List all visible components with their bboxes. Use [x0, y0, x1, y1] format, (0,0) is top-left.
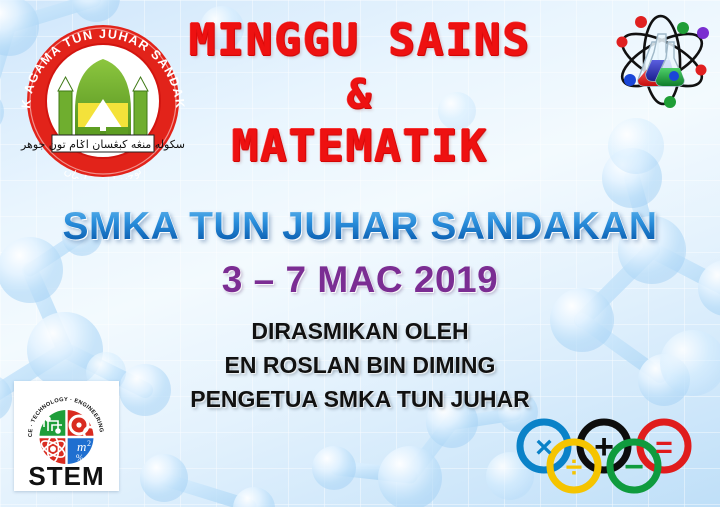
poster-title-line-2: MATEMATIK	[0, 124, 720, 170]
svg-text:2: 2	[87, 439, 91, 448]
stem-logo-wordmark: STEM	[28, 461, 104, 491]
poster-canvas: سكوله منڠه كبڠسان اݢام تون جوهر SMK AGAM…	[0, 0, 720, 507]
divide-symbol: ÷	[566, 451, 582, 484]
minus-symbol: −	[624, 448, 644, 486]
svg-text:m: m	[77, 439, 86, 454]
poster-title-ampersand: &	[0, 74, 720, 116]
school-name-heading: SMKA TUN JUHAR SANDAKAN	[0, 205, 720, 249]
multiply-symbol: ×	[535, 431, 553, 464]
stem-logo: m 2 % √ SCIENCE · TECHNOLOGY · ENGINEERI…	[14, 381, 119, 491]
molecule-decoration-bottom-left	[120, 420, 300, 507]
plus-symbol: +	[594, 428, 614, 466]
event-date-heading: 3 – 7 MAC 2019	[0, 259, 720, 301]
officiate-line-2: EN ROSLAN BIN DIMING	[0, 352, 720, 379]
poster-title-line-1: MINGGU SAINS	[0, 18, 720, 64]
officiate-line-1: DIRASMIKAN OLEH	[0, 318, 720, 345]
equals-symbol: =	[655, 431, 673, 464]
math-olympic-rings: × + = ÷ −	[506, 418, 711, 494]
